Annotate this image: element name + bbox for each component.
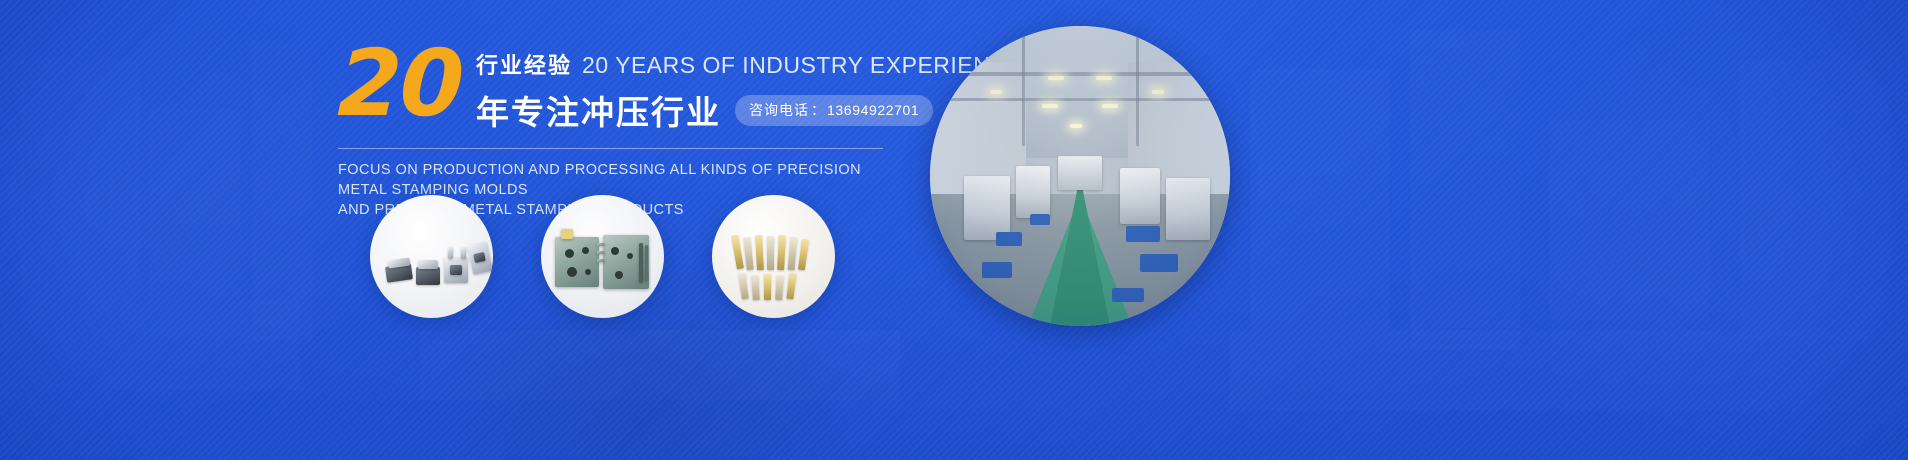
phone-label: 咨询电话 bbox=[749, 100, 809, 120]
industry-experience-cn: 行业经验 bbox=[476, 48, 572, 80]
product-circle-mold bbox=[541, 195, 664, 318]
phone-number: 13694922701 bbox=[827, 102, 919, 118]
product-circle-connectors bbox=[370, 195, 493, 318]
phone-separator: ： bbox=[811, 100, 825, 120]
consult-phone-badge[interactable]: 咨询电话 ： 13694922701 bbox=[735, 95, 933, 126]
headline-row: 20 行业经验 20 YEARS OF INDUSTRY EXPERIENCE … bbox=[338, 42, 898, 134]
years-number: 20 bbox=[337, 44, 464, 123]
divider-rule bbox=[338, 148, 883, 149]
factory-photo-tint bbox=[930, 26, 1230, 326]
subtitle-line-1: FOCUS ON PRODUCTION AND PROCESSING ALL K… bbox=[338, 160, 898, 200]
product-circle-pins bbox=[712, 195, 835, 318]
headline-block: 20 行业经验 20 YEARS OF INDUSTRY EXPERIENCE … bbox=[338, 42, 898, 220]
promo-banner: 20 行业经验 20 YEARS OF INDUSTRY EXPERIENCE … bbox=[0, 0, 1908, 460]
stamping-focus-cn: 年专注冲压行业 bbox=[476, 86, 721, 134]
factory-photo-circle bbox=[930, 26, 1230, 326]
